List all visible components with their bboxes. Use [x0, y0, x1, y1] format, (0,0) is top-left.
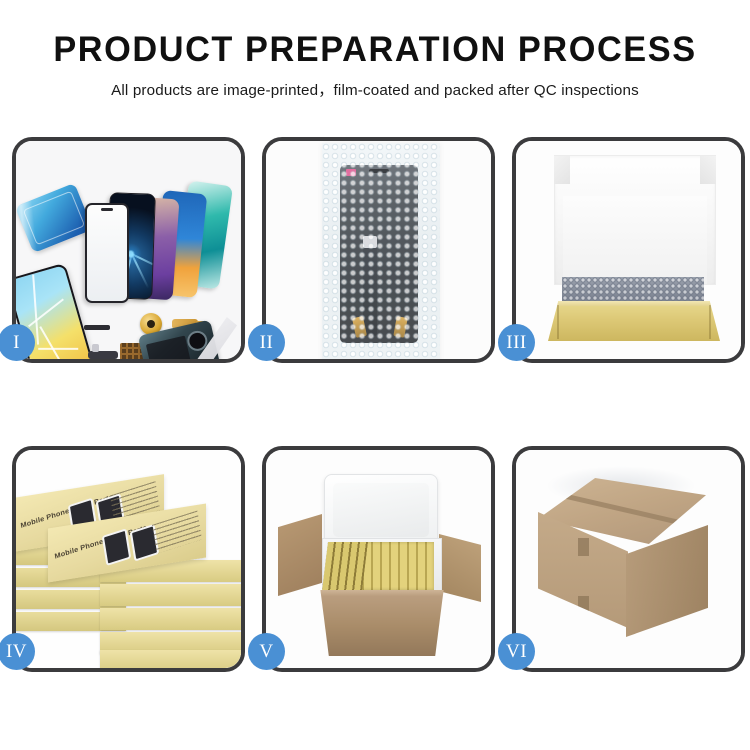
step-badge-3: III: [498, 324, 535, 361]
step-3-image: [516, 141, 741, 359]
step-2-image: [266, 141, 491, 359]
bubble-wrap-bag: [322, 143, 440, 359]
process-step-4: Mobile Phone Spare Parts Mobile Phone Sp…: [12, 446, 245, 672]
packed-retail-boxes: [328, 542, 434, 590]
phone-glass-panel: [85, 203, 129, 303]
flex-cable-dark: [88, 351, 118, 359]
retail-box-stack: Mobile Phone Spare Parts Mobile Phone Sp…: [16, 450, 241, 668]
carton-flap-right: [439, 534, 481, 602]
process-step-6: VI: [512, 446, 745, 672]
step-6-image: [516, 450, 741, 668]
process-step-3: III: [512, 137, 745, 363]
process-step-2: II: [262, 137, 495, 363]
page-header: PRODUCT PREPARATION PROCESS All products…: [0, 0, 750, 100]
outer-carton-front: [312, 590, 452, 656]
carton-flap-left: [278, 514, 322, 596]
process-step-5: V: [262, 446, 495, 672]
step-badge-6: VI: [498, 633, 535, 670]
earpiece-bar: [84, 325, 110, 330]
process-steps-grid: I II: [12, 137, 738, 672]
step-badge-2: II: [248, 324, 285, 361]
step-5-image: [266, 450, 491, 668]
page-title: PRODUCT PREPARATION PROCESS: [8, 32, 743, 69]
inner-box-tray: [548, 301, 720, 341]
step-1-image: [16, 141, 241, 359]
process-step-1: I: [12, 137, 245, 363]
page-subtitle: All products are image-printed，film-coat…: [0, 78, 750, 100]
foam-padding: [562, 277, 704, 305]
step-4-image: Mobile Phone Spare Parts Mobile Phone Sp…: [16, 450, 241, 668]
step-badge-5: V: [248, 633, 285, 670]
foam-cooler-lid: [324, 474, 438, 546]
inner-box-lid: [554, 155, 716, 285]
